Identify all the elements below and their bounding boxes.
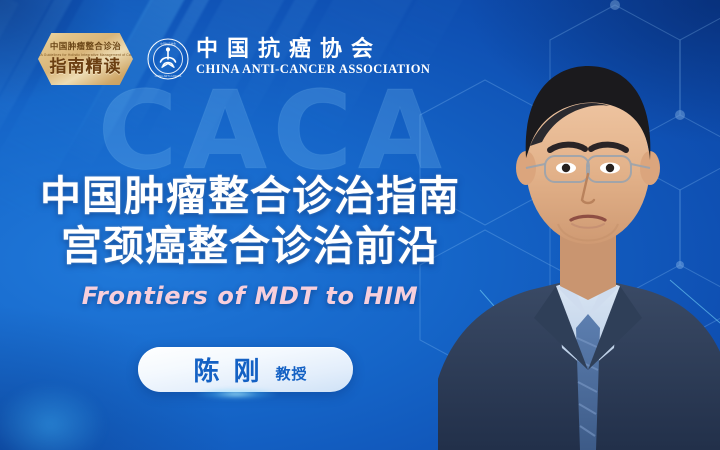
association-wordmark: 中国抗癌协会 CHINA ANTI-CANCER ASSOCIATION bbox=[196, 38, 430, 77]
caca-emblem-icon: 中国抗癌协会 CHINA ANTI-CANCER bbox=[147, 38, 189, 80]
speaker-name: 陈刚 bbox=[193, 351, 273, 388]
badge-top-text: 中国肿瘤整合诊治 bbox=[50, 43, 121, 52]
poster-canvas: CACA 中国肿瘤整合诊治 CACA Guidelines for Holist… bbox=[0, 0, 720, 450]
plate-glow bbox=[176, 386, 296, 402]
badge-main-text: 指南精读 bbox=[50, 59, 122, 76]
association-chinese-name: 中国抗癌协会 bbox=[196, 38, 430, 61]
bottom-left-glow bbox=[0, 365, 130, 450]
title-block: 中国肿瘤整合诊治指南 宫颈癌整合诊治前沿 Frontiers of MDT to… bbox=[0, 172, 500, 310]
speaker-portrait bbox=[438, 18, 720, 450]
badge-english-text: CACA Guidelines for Holistic Integrative… bbox=[33, 53, 138, 57]
svg-text:中国抗癌协会: 中国抗癌协会 bbox=[160, 42, 176, 46]
page-subtitle: Frontiers of MDT to HIM bbox=[0, 282, 500, 310]
page-title-line2: 宫颈癌整合诊治前沿 bbox=[0, 222, 500, 270]
page-title-line1: 中国肿瘤整合诊治指南 bbox=[0, 172, 500, 220]
caca-watermark: CACA bbox=[98, 78, 448, 186]
association-english-name: CHINA ANTI-CANCER ASSOCIATION bbox=[196, 62, 430, 77]
speaker-role: 教授 bbox=[276, 363, 308, 384]
svg-text:CHINA ANTI-CANCER: CHINA ANTI-CANCER bbox=[155, 74, 182, 78]
guideline-badge: 中国肿瘤整合诊治 CACA Guidelines for Holistic In… bbox=[38, 33, 133, 85]
